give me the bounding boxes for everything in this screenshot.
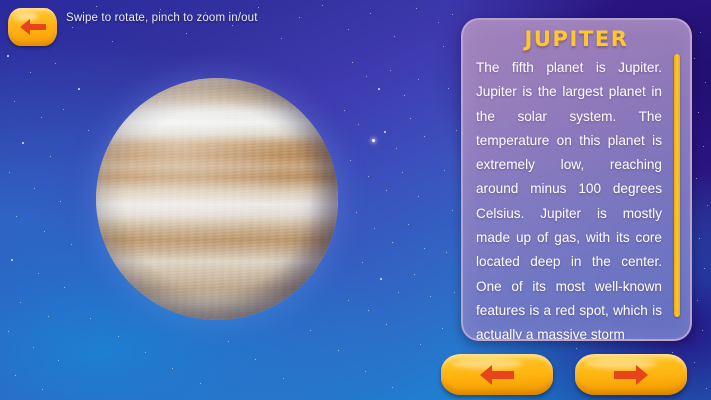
arrow-right-icon (614, 365, 648, 385)
star (702, 330, 703, 331)
star (699, 238, 700, 239)
star (438, 22, 439, 23)
star (34, 188, 35, 189)
arrow-left-icon (480, 365, 514, 385)
panel-scrollbar-thumb[interactable] (674, 54, 680, 317)
star (700, 32, 701, 33)
star (258, 7, 259, 8)
star (706, 388, 707, 389)
star (705, 82, 706, 83)
star (55, 63, 56, 64)
star (446, 252, 447, 253)
star (160, 9, 161, 10)
star (50, 156, 51, 157)
star (348, 300, 349, 301)
star (145, 352, 146, 353)
star (11, 259, 13, 261)
star (362, 262, 363, 263)
previous-planet-button[interactable] (441, 354, 553, 395)
star (370, 13, 371, 14)
star (444, 170, 445, 171)
star (402, 172, 403, 173)
star (448, 88, 449, 89)
star (456, 130, 457, 131)
star (704, 268, 705, 269)
star (424, 248, 425, 249)
star (386, 190, 387, 191)
planet-limb (96, 78, 338, 320)
star (416, 8, 417, 9)
star (576, 348, 577, 349)
star (398, 292, 399, 293)
star (33, 347, 34, 348)
star (48, 316, 49, 317)
star (338, 350, 339, 351)
star (200, 383, 201, 384)
star (283, 378, 284, 379)
star (384, 131, 386, 133)
star (232, 25, 233, 26)
star (414, 274, 415, 275)
planet-3d-viewer[interactable] (96, 78, 338, 320)
star (424, 136, 425, 137)
star (392, 242, 393, 243)
star (698, 112, 699, 113)
star (7, 55, 9, 57)
jupiter-planet-image[interactable] (96, 78, 338, 320)
star (96, 6, 97, 7)
star (418, 79, 419, 80)
panel-description-text: The fifth planet is Jupiter. Jupiter is … (476, 56, 662, 339)
gesture-hint-text: Swipe to rotate, pinch to zoom in/out (66, 12, 258, 24)
star (255, 359, 256, 360)
star (186, 33, 187, 34)
star (380, 278, 382, 280)
star (392, 387, 393, 388)
planet-viewer-screen: Swipe to rotate, pinch to zoom in/out JU… (0, 0, 711, 400)
arrow-left-icon (20, 19, 46, 35)
star (454, 292, 455, 293)
star (64, 287, 65, 288)
planet-info-panel: JUPITER The fifth planet is Jupiter. Jup… (461, 18, 692, 341)
star (348, 29, 349, 30)
star (404, 95, 405, 96)
star (38, 273, 39, 274)
star (703, 146, 704, 147)
star (16, 216, 17, 217)
star (310, 330, 311, 331)
star (430, 296, 431, 297)
star (118, 336, 119, 337)
star (442, 328, 443, 329)
star (78, 88, 80, 90)
star (41, 117, 42, 118)
panel-scrollbar[interactable] (674, 54, 680, 317)
star (358, 124, 359, 125)
star (71, 244, 72, 245)
star (88, 130, 89, 131)
star (386, 324, 387, 325)
star (60, 201, 61, 202)
star (350, 160, 351, 161)
star (344, 110, 345, 111)
star (697, 300, 698, 301)
star (408, 224, 409, 225)
next-planet-button[interactable] (575, 354, 687, 395)
star (420, 344, 421, 345)
star (281, 38, 282, 39)
star (707, 205, 708, 206)
star (366, 76, 367, 77)
star (452, 210, 453, 211)
star (368, 176, 369, 177)
star (9, 172, 10, 173)
back-button[interactable] (8, 8, 57, 46)
star (418, 196, 419, 197)
star (90, 318, 91, 319)
star (672, 352, 673, 353)
star (452, 14, 453, 15)
star (352, 62, 353, 63)
star (396, 148, 397, 149)
star (172, 368, 173, 369)
star (356, 212, 357, 213)
star (390, 70, 391, 71)
star (443, 46, 444, 47)
panel-title: JUPITER (463, 27, 690, 51)
star (394, 36, 395, 37)
star (15, 375, 16, 376)
star (30, 72, 31, 73)
star (694, 58, 695, 59)
star (63, 109, 64, 110)
star (299, 17, 300, 18)
star (365, 371, 366, 372)
star (374, 228, 375, 229)
star (372, 139, 375, 142)
star (378, 88, 380, 90)
star (20, 302, 21, 303)
star (42, 389, 43, 390)
star (8, 331, 9, 332)
star (72, 27, 73, 28)
star (58, 360, 59, 361)
star (44, 231, 45, 232)
star (410, 118, 411, 119)
star (322, 5, 323, 6)
star (22, 142, 24, 144)
star (228, 341, 229, 342)
star (112, 41, 113, 42)
star (696, 178, 697, 179)
star (14, 101, 15, 102)
star (694, 362, 695, 363)
star (368, 310, 369, 311)
